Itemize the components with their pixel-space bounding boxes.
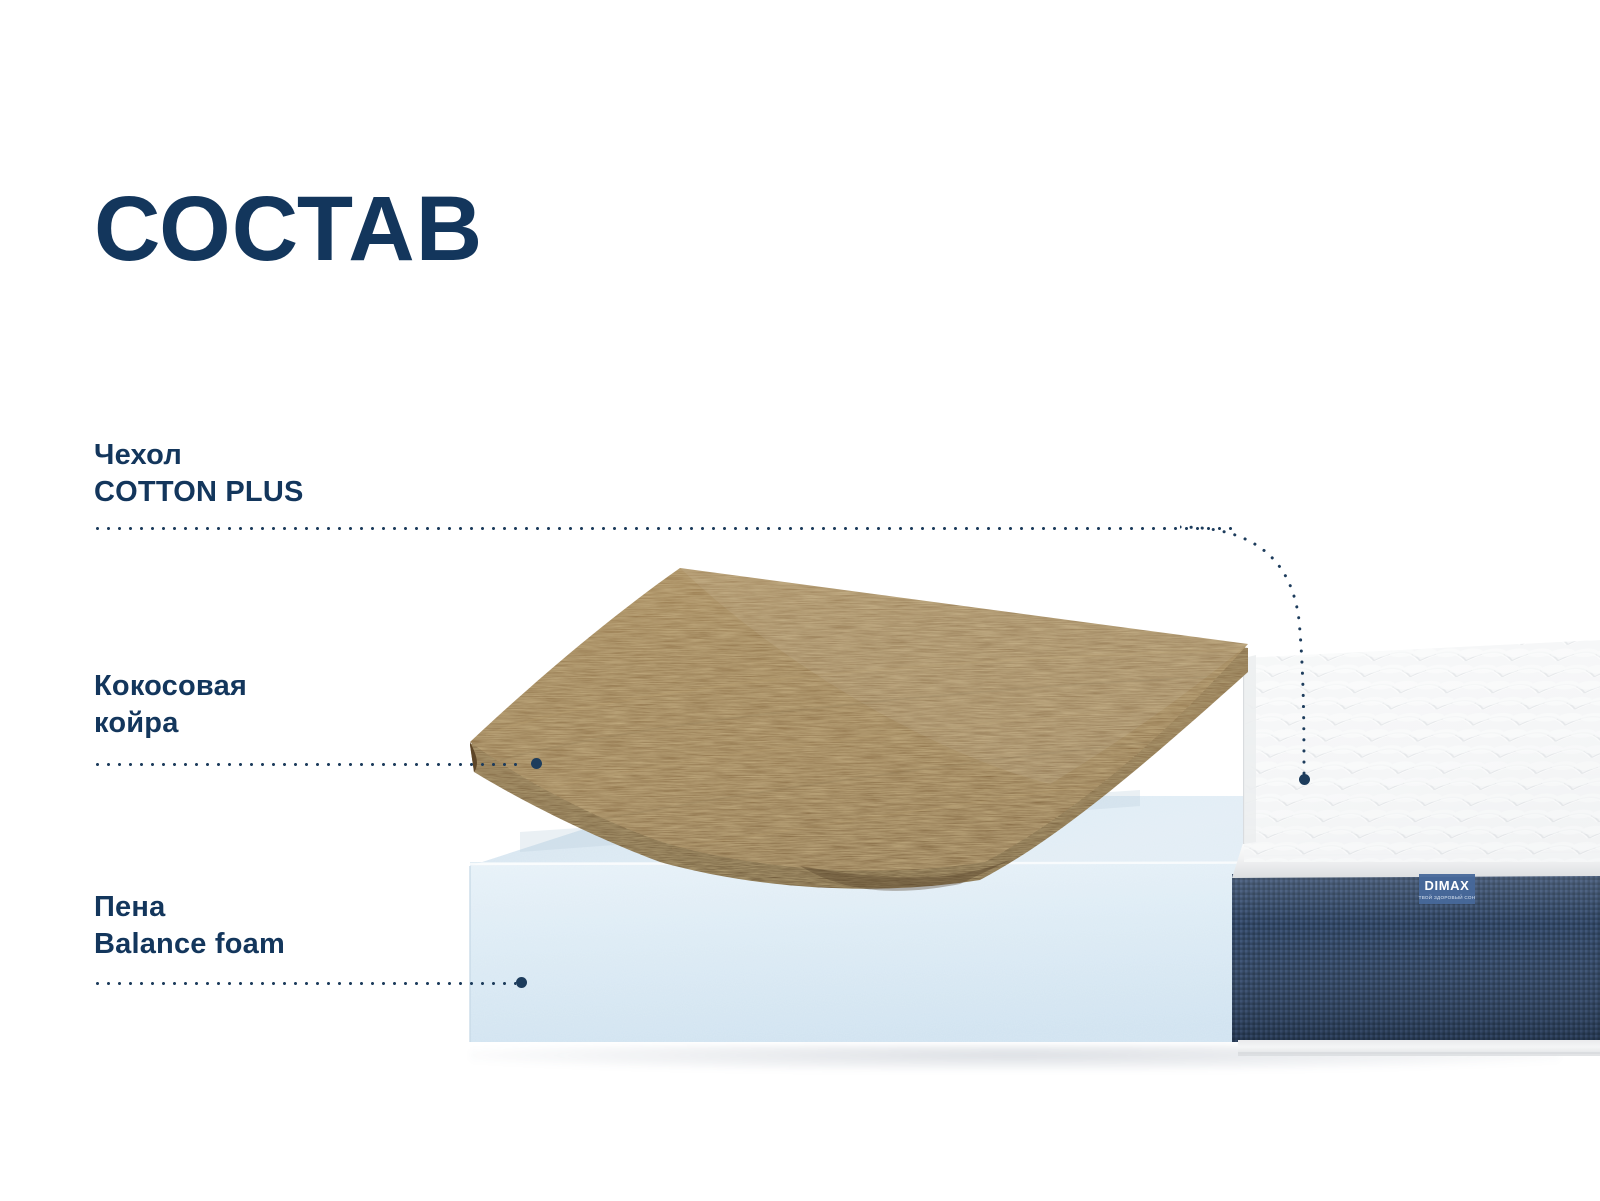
mattress-side-panel <box>1232 874 1600 1056</box>
leader-endpoint-coir <box>531 758 542 769</box>
composition-infographic: СОСТАВ <box>0 0 1600 1201</box>
callout-foam: Пена Balance foam <box>94 889 285 963</box>
mattress-illustration: DIMAX ТВОЙ ЗДОРОВЫЙ СОН <box>0 0 1600 1201</box>
leader-line-cover <box>92 527 1234 530</box>
leader-endpoint-cover <box>1299 774 1310 785</box>
leader-line-foam <box>92 982 516 985</box>
svg-text:DIMAX: DIMAX <box>1425 878 1470 893</box>
callout-coir-line1: Кокосовая <box>94 668 247 705</box>
callout-cover-line2: COTTON PLUS <box>94 474 304 511</box>
callout-foam-line1: Пена <box>94 889 285 926</box>
mattress-svg: DIMAX ТВОЙ ЗДОРОВЫЙ СОН <box>0 0 1600 1201</box>
brand-tag: DIMAX ТВОЙ ЗДОРОВЫЙ СОН <box>1419 874 1476 904</box>
callout-coir: Кокосовая койра <box>94 668 247 742</box>
callout-cover: Чехол COTTON PLUS <box>94 437 304 511</box>
callout-cover-line1: Чехол <box>94 437 304 474</box>
callout-coir-line2: койра <box>94 705 247 742</box>
leader-endpoint-foam <box>516 977 527 988</box>
callout-foam-line2: Balance foam <box>94 926 285 963</box>
svg-text:ТВОЙ ЗДОРОВЫЙ СОН: ТВОЙ ЗДОРОВЫЙ СОН <box>1419 893 1476 900</box>
leader-line-coir <box>92 763 524 766</box>
